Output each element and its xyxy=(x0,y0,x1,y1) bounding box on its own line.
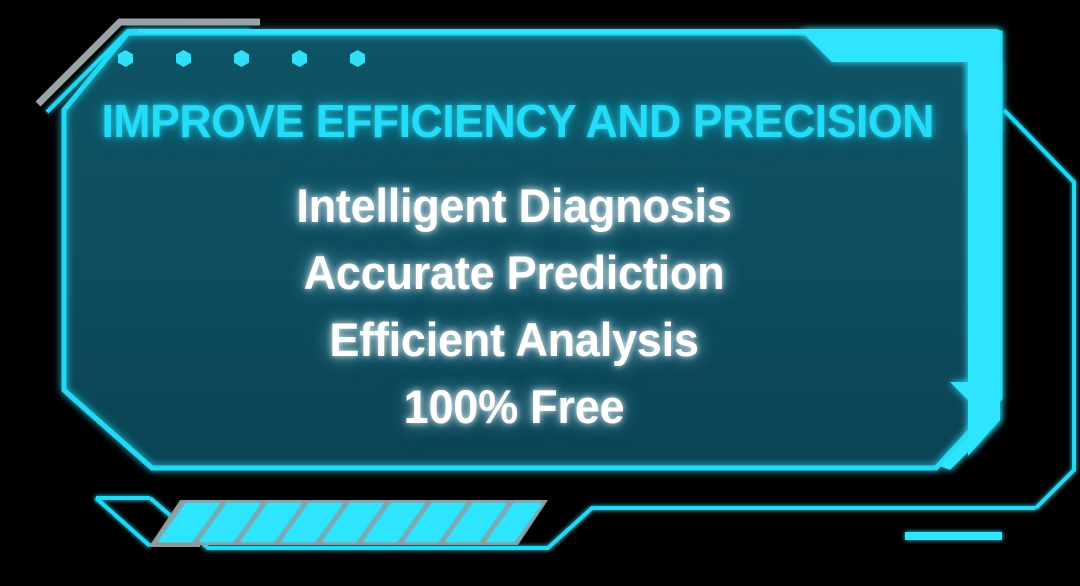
hud-frame-graphic xyxy=(0,0,1080,586)
bottom-right-tab xyxy=(905,532,1002,540)
diagonal-hatch-bar xyxy=(150,500,548,545)
bottom-left-tracer xyxy=(96,498,150,546)
hud-panel-root: IMPROVE EFFICIENCY AND PRECISION Intelli… xyxy=(0,0,1080,586)
panel-body xyxy=(62,31,1000,470)
outer-cyan-tracer-right xyxy=(1004,110,1074,508)
